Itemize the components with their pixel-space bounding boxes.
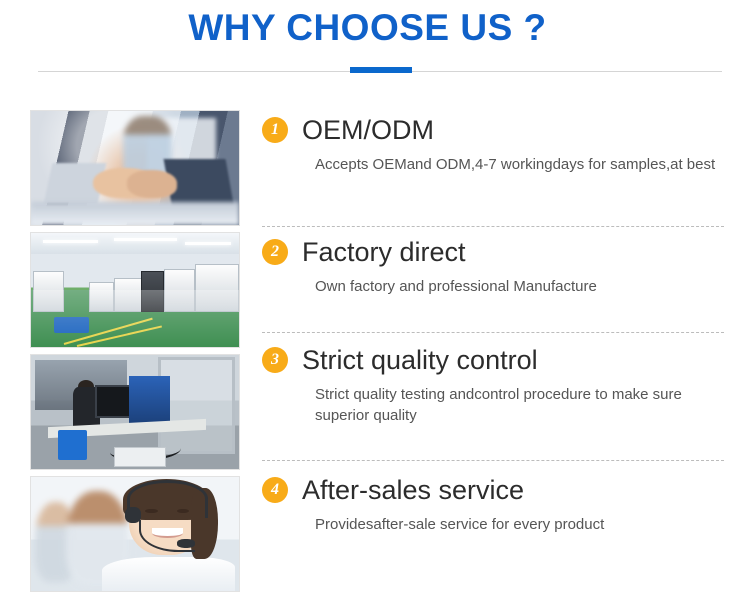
feature-divider [262, 460, 724, 461]
photo-customer-service [30, 476, 240, 592]
feature-description: Accepts OEMand ODM,4-7 workingdays for s… [315, 154, 719, 175]
feature-divider [262, 332, 724, 333]
floor-gloss-shape [31, 290, 239, 347]
page-title: WHY CHOOSE US ? [0, 6, 735, 50]
header-rule-accent [350, 67, 412, 73]
feature-title: Factory direct [302, 236, 466, 268]
feature-divider [262, 226, 724, 227]
feature-number-badge: 1 [262, 117, 288, 143]
feature-item-strict-quality-control: 3 Strict quality control Strict quality … [262, 344, 724, 426]
table-shape [31, 202, 239, 225]
test-machine-shape [129, 376, 171, 426]
why-choose-us-page: WHY CHOOSE US ? [0, 0, 735, 592]
feature-description: Providesafter-sale service for every pro… [315, 514, 719, 535]
feature-header: 4 After-sales service [262, 474, 724, 506]
feature-number-badge: 4 [262, 477, 288, 503]
feature-item-oem-odm: 1 OEM/ODM Accepts OEMand ODM,4-7 working… [262, 114, 724, 175]
equipment-box-shape [114, 447, 166, 467]
photo-column [30, 110, 240, 592]
blue-stool-shape [58, 430, 87, 460]
feature-header: 2 Factory direct [262, 236, 724, 268]
feature-description: Own factory and professional Manufacture [315, 276, 719, 297]
photo-factory-line [30, 232, 240, 348]
photo-handshake [30, 110, 240, 226]
feature-number-badge: 3 [262, 347, 288, 373]
headset-mic-shape [177, 539, 196, 548]
shirt-shape [102, 557, 235, 591]
feature-title: Strict quality control [302, 344, 538, 376]
ceiling-light-shape [114, 238, 176, 241]
feature-title: OEM/ODM [302, 114, 434, 146]
feature-header: 3 Strict quality control [262, 344, 724, 376]
feature-title: After-sales service [302, 474, 524, 506]
ceiling-light-shape [43, 240, 97, 243]
feature-description: Strict quality testing andcontrol proced… [315, 384, 719, 426]
ceiling-light-shape [185, 242, 231, 245]
content-area: 1 OEM/ODM Accepts OEMand ODM,4-7 working… [0, 92, 735, 592]
monitor-shape [95, 385, 132, 419]
hand-shape-right [127, 170, 177, 197]
page-header: WHY CHOOSE US ? [0, 0, 735, 92]
feature-header: 1 OEM/ODM [262, 114, 724, 146]
feature-number-badge: 2 [262, 239, 288, 265]
feature-item-after-sales-service: 4 After-sales service Providesafter-sale… [262, 474, 724, 535]
feature-item-factory-direct: 2 Factory direct Own factory and profess… [262, 236, 724, 297]
photo-quality-control [30, 354, 240, 470]
